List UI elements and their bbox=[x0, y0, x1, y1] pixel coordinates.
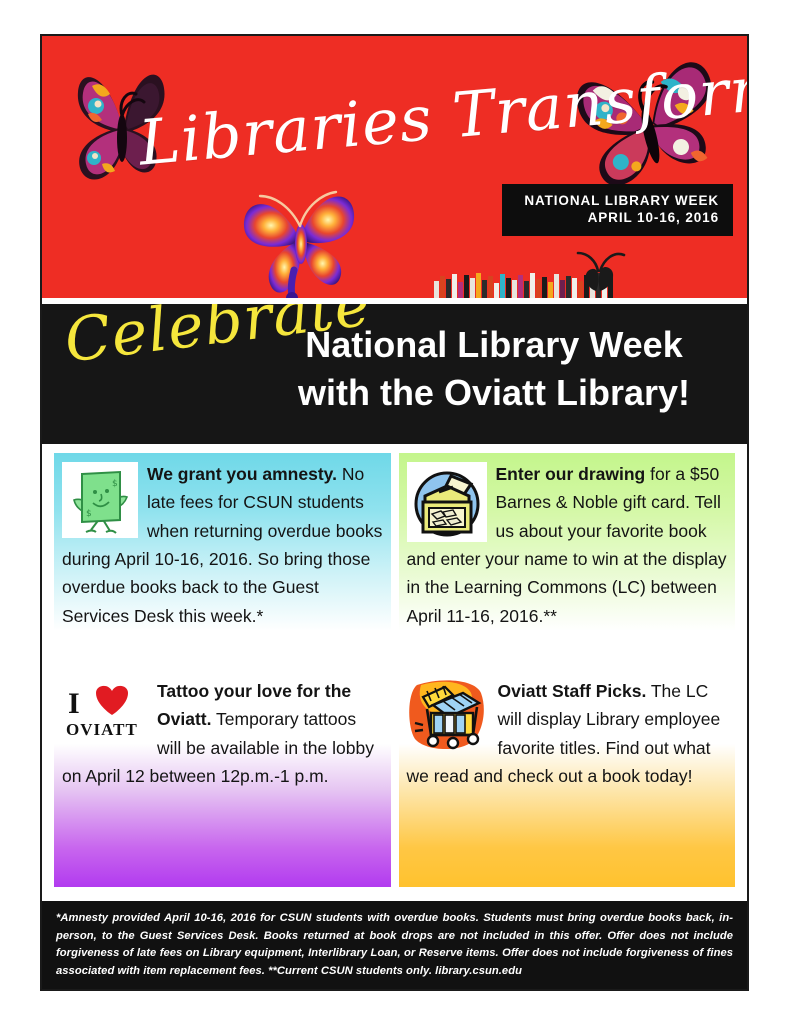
panel-tattoo: I OVIATT Tattoo your love for the Oviatt… bbox=[54, 670, 391, 887]
title-line-2: with the Oviatt Library! bbox=[259, 370, 729, 416]
i-heart-oviatt-icon: I OVIATT bbox=[62, 679, 148, 741]
panels-area: $ $ We grant you amnesty. No late fees f… bbox=[42, 444, 747, 882]
butterfly-center-icon bbox=[224, 164, 374, 298]
dollar-bill-character-icon: $ $ bbox=[62, 462, 138, 538]
svg-text:I: I bbox=[68, 687, 80, 720]
book-cart-icon bbox=[407, 679, 489, 751]
panel-staff-picks: Oviatt Staff Picks. The LC will display … bbox=[399, 670, 736, 887]
title-block: Celebrate National Library Week with the… bbox=[42, 304, 747, 444]
raffle-ballot-box-icon bbox=[407, 462, 487, 542]
panel-cell-drawing: Enter our drawing for a $50 Barnes & Nob… bbox=[395, 453, 740, 670]
panel-cell-amnesty: $ $ We grant you amnesty. No late fees f… bbox=[50, 453, 395, 670]
panel-amnesty: $ $ We grant you amnesty. No late fees f… bbox=[54, 453, 391, 670]
panel-drawing: Enter our drawing for a $50 Barnes & Nob… bbox=[399, 453, 736, 670]
panel-cell-staff-picks: Oviatt Staff Picks. The LC will display … bbox=[395, 670, 740, 887]
panel-drawing-lead: Enter our drawing bbox=[496, 464, 646, 484]
butterfly-silhouette-icon bbox=[566, 247, 636, 298]
national-library-week-badge: NATIONAL LIBRARY WEEK APRIL 10-16, 2016 bbox=[502, 184, 733, 236]
footer-text: *Amnesty provided April 10-16, 2016 for … bbox=[56, 910, 733, 981]
svg-text:$: $ bbox=[112, 479, 118, 489]
footer-fine-print: *Amnesty provided April 10-16, 2016 for … bbox=[42, 901, 747, 989]
banner-hero: Libraries Transform NATIONAL LIBRARY WEE… bbox=[42, 36, 747, 298]
panels-grid: $ $ We grant you amnesty. No late fees f… bbox=[50, 453, 739, 887]
panel-cell-tattoo: I OVIATT Tattoo your love for the Oviatt… bbox=[50, 670, 395, 887]
badge-line-1: NATIONAL LIBRARY WEEK bbox=[524, 192, 719, 209]
badge-line-2: APRIL 10-16, 2016 bbox=[524, 209, 719, 226]
svg-text:$: $ bbox=[86, 509, 92, 519]
svg-text:OVIATT: OVIATT bbox=[66, 720, 138, 739]
panel-amnesty-lead: We grant you amnesty. bbox=[147, 464, 337, 484]
poster: Libraries Transform NATIONAL LIBRARY WEE… bbox=[40, 34, 749, 991]
panel-staff-picks-lead: Oviatt Staff Picks. bbox=[498, 681, 647, 701]
